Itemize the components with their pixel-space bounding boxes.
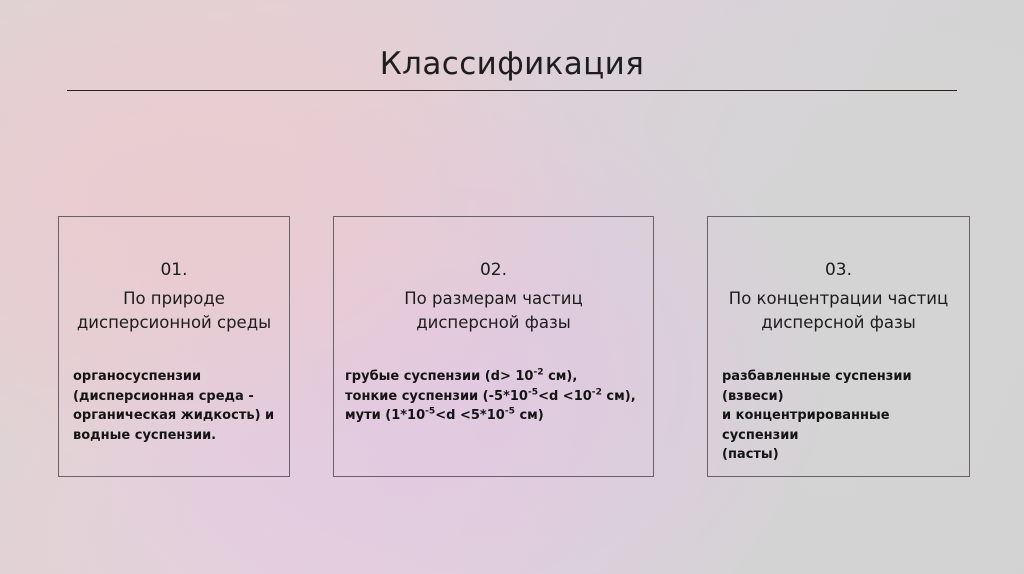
page-title: Классификация: [67, 44, 957, 84]
card-heading-line-1: По концентрации частиц: [712, 287, 965, 311]
card-body-line-1: органосуспензии: [73, 367, 281, 387]
card-body-line-3: мути (1*10-5<d <5*10-5 см): [345, 406, 647, 426]
card-heading-line-2: дисперсной фазы: [712, 311, 965, 335]
card-body-line-4: водные суспензии.: [73, 426, 281, 446]
card-heading-line-2: дисперсной фазы: [338, 311, 649, 335]
formula-exponent: -5: [425, 407, 435, 417]
formula-text: грубые суспензии (d> 10: [345, 369, 533, 384]
card-number: 02.: [334, 259, 653, 281]
formula-text: тонкие суспензии (-5*10: [345, 389, 528, 404]
card-heading-line-2: дисперсионной среды: [63, 311, 285, 335]
formula-text: см),: [544, 369, 578, 384]
classification-card-2[interactable]: 02. По размерам частиц дисперсной фазы г…: [333, 216, 654, 477]
formula-text: см),: [602, 389, 636, 404]
card-number: 03.: [708, 259, 969, 281]
card-heading: По размерам частиц дисперсной фазы: [338, 287, 649, 335]
formula-text: мути (1*10: [345, 408, 425, 423]
card-body: разбавленные суспензии (взвеси) и концен…: [722, 367, 963, 465]
formula-text: см): [515, 408, 544, 423]
card-heading-line-1: По размерам частиц: [338, 287, 649, 311]
card-heading: По природе дисперсионной среды: [63, 287, 285, 335]
formula-exponent: -2: [533, 368, 543, 378]
card-body-line-3: (пасты): [722, 445, 963, 465]
card-body-line-2: и концентрированные суспензии: [722, 406, 963, 445]
card-body-line-3: органическая жидкость) и: [73, 406, 281, 426]
formula-text: <d <5*10: [435, 408, 505, 423]
card-body-line-2: тонкие суспензии (-5*10-5<d <10-2 см),: [345, 387, 647, 407]
classification-card-1[interactable]: 01. По природе дисперсионной среды орган…: [58, 216, 290, 477]
title-divider: [67, 90, 957, 91]
slide-canvas: Классификация 01. По природе дисперсионн…: [0, 0, 1024, 574]
formula-exponent: -5: [505, 407, 515, 417]
card-body-line-2: (дисперсионная среда -: [73, 387, 281, 407]
card-body-line-1: грубые суспензии (d> 10-2 см),: [345, 367, 647, 387]
classification-card-3[interactable]: 03. По концентрации частиц дисперсной фа…: [707, 216, 970, 477]
card-heading: По концентрации частиц дисперсной фазы: [712, 287, 965, 335]
formula-exponent: -2: [592, 387, 602, 397]
card-body: грубые суспензии (d> 10-2 см), тонкие су…: [345, 367, 647, 426]
card-heading-line-1: По природе: [63, 287, 285, 311]
card-body-line-1: разбавленные суспензии (взвеси): [722, 367, 963, 406]
formula-exponent: -5: [528, 387, 538, 397]
card-number: 01.: [59, 259, 289, 281]
card-body: органосуспензии (дисперсионная среда - о…: [73, 367, 281, 445]
formula-text: <d <10: [538, 389, 592, 404]
